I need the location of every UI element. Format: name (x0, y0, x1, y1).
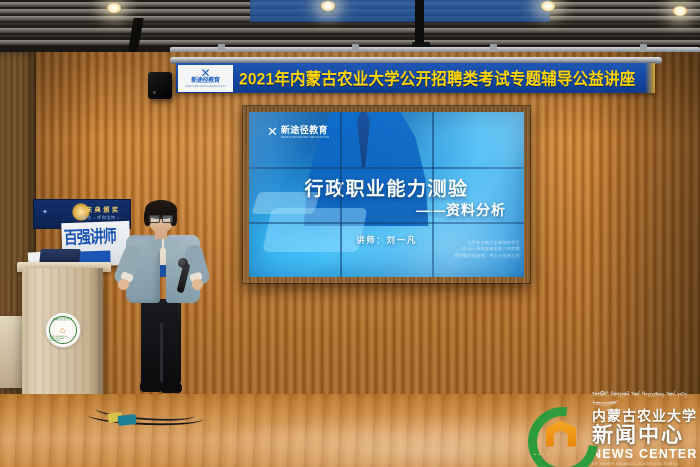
speaker-shoe-right (160, 381, 182, 393)
watermark-university-en: OF INNER MONGOLIA AGRICULTURAL UNIVERSIT… (592, 461, 700, 467)
watermark-leaf-dots: • • • • (534, 452, 549, 458)
slide-fine-print: 让所有自制力足够强的学生 可以开 高效能者机能少的转换 得到最好的成绩，考上心仪… (452, 240, 520, 259)
podium-side-shadow (91, 268, 103, 398)
panel-bezel-horizontal (249, 167, 524, 169)
floor-adapter-box (118, 414, 137, 426)
slide-title: 行政职业能力测验 (249, 174, 524, 201)
speaker-leg-seam (160, 323, 163, 385)
slide-logo-name-en: NEW EXPLORING EDUCATION (281, 135, 329, 139)
video-wall-screen: ✕ 新途径教育 NEW EXPLORING EDUCATION 行政职业能力测验… (249, 112, 524, 277)
banner-title-text: 2021年内蒙古农业大学公开招聘类考试专题辅导公益讲座 (239, 66, 635, 90)
banner-edge-fold (645, 63, 655, 93)
university-emblem: 内蒙古农业大学 ⌂ INNER MONGOLIA AGRICULTURAL UN… (45, 312, 81, 348)
banner-star-icon: ✦ (42, 208, 48, 216)
emblem-house-icon: ⌂ (60, 326, 65, 335)
side-table (0, 316, 22, 388)
emblem-name-en: INNER MONGOLIA AGRICULTURAL UNIVERSITY (50, 336, 76, 342)
slide-logo-name-cn: 新途径教育 (281, 125, 329, 135)
slide-subtitle: ——资料分析 (416, 200, 506, 220)
speaker-glasses-icon (149, 215, 173, 221)
watermark-logo-icon: • • • • (524, 402, 590, 462)
slide-logo-x-icon: ✕ (267, 126, 278, 138)
panel-bezel-vertical (432, 112, 434, 277)
photo-scene: ✕ 新途径教育 NEW EXPLORING EDUCATION 2021年内蒙古… (0, 0, 700, 467)
glasses-lens-right (162, 215, 173, 223)
poster-text: 百强讲师 (63, 223, 116, 250)
slide-fine-line-3: 得到最好的成绩，考上心仪的工作 (452, 253, 520, 259)
sponsor-name-cn: 新途径教育 (191, 78, 220, 85)
panel-bezel-horizontal (249, 222, 524, 224)
speaker-hand-right (192, 279, 203, 290)
sponsor-x-icon: ✕ (200, 68, 210, 78)
wall-speaker-box (148, 72, 172, 99)
watermark-university-name: 内蒙古农业大学 (592, 408, 700, 424)
news-center-watermark: • • • • ᠦᠪᠦᠷ ᠮᠣᠩᠭᠤᠯ ᠤᠨ ᠲᠠᠷᠢᠶᠠᠯᠠᠩ ᠤᠨ ᠶᠡᠬᠡ… (524, 396, 700, 467)
ceiling-spotlight (540, 1, 556, 12)
microphone-head-icon (178, 258, 188, 268)
speaker-hand-left (118, 279, 129, 290)
lectern: 内蒙古农业大学 ⌂ INNER MONGOLIA AGRICULTURAL UN… (22, 268, 103, 398)
banner-sponsor-logo: ✕ 新途径教育 NEW EXPLORING EDUCATION (178, 65, 233, 92)
slide-logo: ✕ 新途径教育 NEW EXPLORING EDUCATION (267, 125, 329, 139)
watermark-news-center-en: NEWS CENTER (592, 447, 700, 461)
emblem-name-cn: 内蒙古农业大学 (53, 317, 73, 321)
background-banner-title: 庆 典 颁 奖 (86, 205, 119, 214)
slide-fine-line-2: 可以开 高效能者机能少的转换 (452, 246, 520, 252)
ceiling-spotlight (106, 3, 122, 14)
event-banner: ✕ 新途径教育 NEW EXPLORING EDUCATION 2021年内蒙古… (176, 63, 655, 93)
podium-laptop (39, 249, 80, 263)
watermark-news-center-cn: 新闻中心 (592, 424, 700, 447)
watermark-mongolian-script: ᠦᠪᠦᠷ ᠮᠣᠩᠭᠤᠯ ᠤᠨ ᠲᠠᠷᠢᠶᠠᠯᠠᠩ ᠤᠨ ᠶᠡᠬᠡ ᠰᠤᠷᠭᠠᠭᠤ… (592, 390, 700, 408)
panel-bezel-vertical (340, 112, 342, 277)
ceiling-spotlight (320, 1, 336, 12)
ceiling-spotlight (672, 6, 688, 17)
speaker-shoe-left (140, 379, 162, 392)
sponsor-name-en: NEW EXPLORING EDUCATION (185, 85, 225, 88)
speaker-person (118, 203, 208, 400)
